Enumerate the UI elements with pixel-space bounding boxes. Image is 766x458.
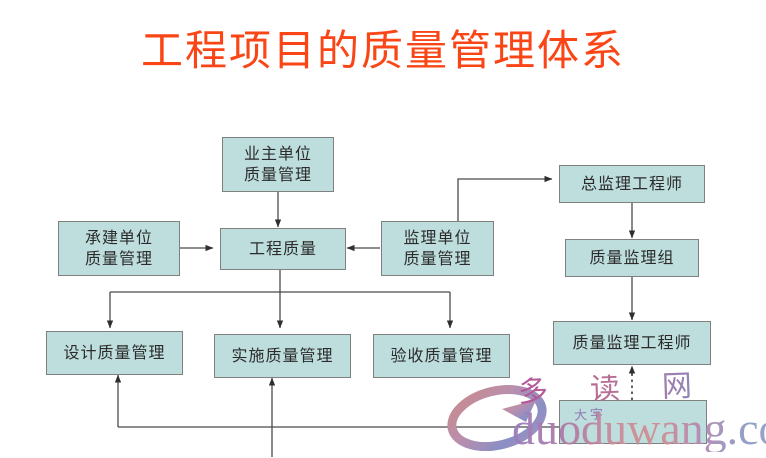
node-supervision-unit-line2: 质量管理 [403,249,471,270]
node-implementation-quality[interactable]: 实施质量管理 [214,334,351,378]
node-supervision-unit[interactable]: 监理单位 质量管理 [381,221,494,276]
node-project-quality[interactable]: 工程质量 [220,228,346,270]
node-chief-supervision-engineer[interactable]: 总监理工程师 [559,165,705,203]
node-contractor-unit-line1: 承建单位 [85,228,153,249]
node-quality-supervision-group[interactable]: 质量监理组 [565,239,699,277]
node-implementation-quality-line1: 实施质量管理 [231,346,333,367]
node-design-quality[interactable]: 设计质量管理 [46,331,183,375]
node-quality-supervision-engineer-line1: 质量监理工程师 [572,333,691,354]
node-project-quality-line1: 工程质量 [249,239,317,260]
node-owner-unit-line2: 质量管理 [244,165,312,186]
node-chief-supervision-engineer-line1: 总监理工程师 [581,174,683,195]
node-contractor-unit[interactable]: 承建单位 质量管理 [58,221,180,276]
node-quality-supervision-engineer[interactable]: 质量监理工程师 [553,321,711,365]
node-owner-unit[interactable]: 业主单位 质量管理 [222,137,334,192]
node-design-quality-line1: 设计质量管理 [63,343,165,364]
node-bottom-right-obscured[interactable] [559,400,707,444]
node-quality-supervision-group-line1: 质量监理组 [589,248,674,269]
node-supervision-unit-line1: 监理单位 [403,228,471,249]
node-owner-unit-line1: 业主单位 [244,144,312,165]
slide-canvas: 工程项目的质量管理体系 [0,0,766,457]
node-acceptance-quality-line1: 验收质量管理 [390,346,492,367]
node-contractor-unit-line2: 质量管理 [85,249,153,270]
node-acceptance-quality[interactable]: 验收质量管理 [373,334,510,378]
